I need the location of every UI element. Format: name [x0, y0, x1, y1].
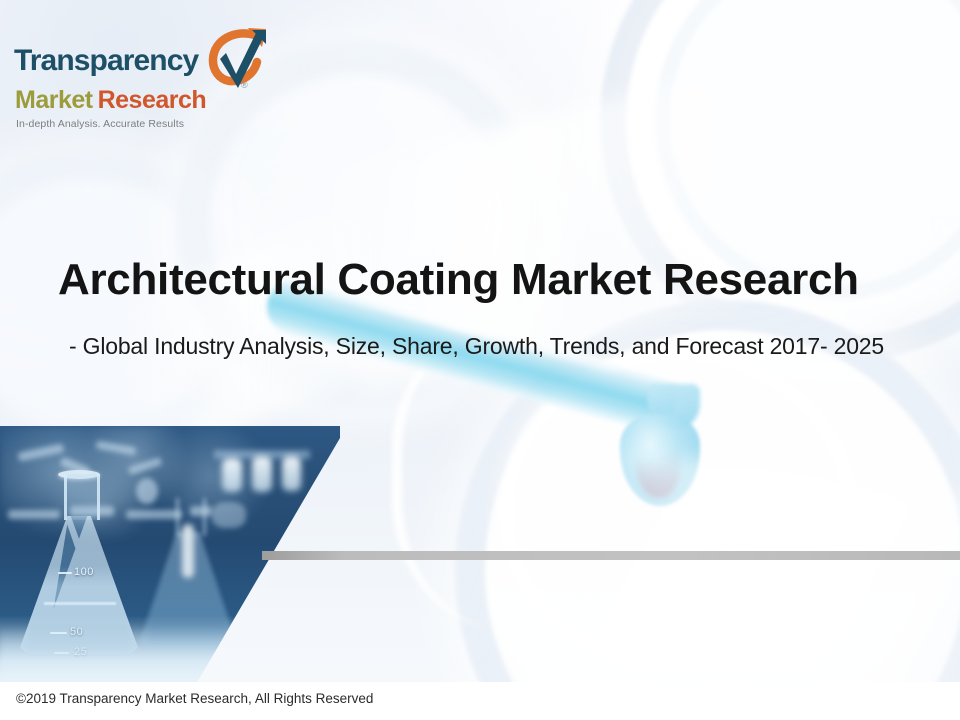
flask-neck [64, 474, 100, 520]
flask-highlight [182, 524, 194, 578]
divider-bar [262, 551, 960, 560]
flask-tick [58, 572, 72, 574]
copyright-notice: ©2019 Transparency Market Research, All … [16, 691, 373, 706]
checkmark-arrow-swoosh-icon [200, 26, 270, 96]
flask-liquid-level [44, 602, 116, 605]
test-tube [252, 456, 272, 492]
logo-tagline: In-depth Analysis. Accurate Results [16, 118, 184, 130]
company-logo[interactable]: Transparency MarketResearch In-depth Ana… [14, 26, 276, 128]
logo-text-transparency: Transparency [14, 46, 198, 76]
registered-trademark-symbol: ® [241, 80, 248, 90]
page-title: Architectural Coating Market Research [58, 255, 859, 305]
page-subtitle: - Global Industry Analysis, Size, Share,… [69, 333, 884, 360]
flask-marking-100: 100 [74, 566, 94, 578]
test-tube [282, 456, 301, 491]
presentation-slide: 100 50 25 Transparency MarketResearch In… [0, 0, 960, 720]
logo-text-market: Market [15, 86, 93, 114]
logo-text-research: Research [98, 86, 207, 114]
test-tube [222, 458, 242, 492]
logo-text-market-research: MarketResearch [15, 88, 206, 113]
